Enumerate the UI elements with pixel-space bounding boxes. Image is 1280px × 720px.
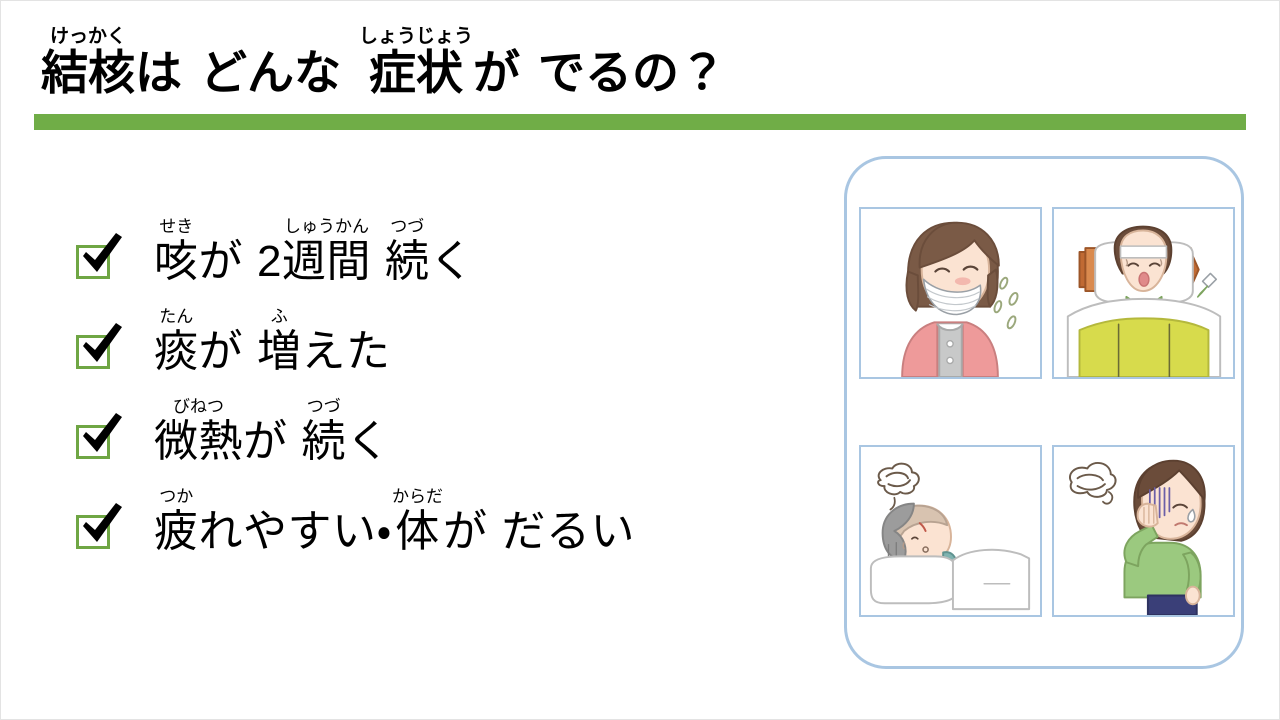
label-text: 週間 — [282, 239, 371, 285]
label-furigana: たん — [159, 308, 193, 326]
label-ruby-group: .が — [443, 488, 488, 555]
label-furigana: せき — [159, 218, 193, 236]
title-text: どんな — [200, 49, 341, 98]
title-text: は — [135, 49, 182, 98]
label-ruby-group: しゅうかん週間 — [282, 218, 371, 285]
label-text: が — [199, 239, 244, 285]
checklist-label: つか疲.れやすい・からだ体.が.だるい — [154, 488, 635, 555]
illustration-grid — [859, 207, 1235, 617]
checkbox-item-phlegm[interactable] — [76, 335, 110, 369]
title-ruby-group: .が — [473, 27, 520, 98]
label-text: 続 — [385, 239, 430, 285]
check-icon — [77, 412, 125, 456]
check-icon — [77, 322, 125, 366]
title-text: が — [473, 49, 520, 98]
label-text: が — [443, 509, 488, 555]
label-furigana: つか — [159, 488, 193, 506]
label-ruby-group: .2 — [257, 218, 282, 285]
label-text: く — [346, 419, 391, 465]
title-ruby-group: しょうじょう症状 — [359, 27, 473, 98]
label-furigana: つづ — [307, 398, 341, 416]
illus-tired-person — [1052, 445, 1235, 617]
checklist-row[interactable]: たん痰.がふ増.えた — [76, 303, 836, 375]
title-text: 結核 — [41, 49, 135, 98]
illus-coughing-woman — [859, 207, 1042, 379]
checklist-label: せき咳.が.2しゅうかん週間つづ続.く — [154, 218, 474, 285]
checkbox-item-lowfever[interactable] — [76, 425, 110, 459]
label-text: 2 — [257, 239, 282, 285]
label-ruby-group: .だるい — [501, 488, 635, 555]
title-furigana: けっかく — [50, 27, 126, 47]
label-furigana: つづ — [390, 218, 424, 236]
label-text: 続 — [302, 419, 347, 465]
label-ruby-group: びねつ微熱 — [154, 398, 243, 465]
title-divider-bar — [34, 114, 1246, 130]
label-text: れやすい・ — [199, 509, 392, 555]
label-text: 体 — [395, 509, 440, 555]
label-text: 咳 — [154, 239, 199, 285]
check-icon — [77, 502, 125, 546]
checklist-row[interactable]: せき咳.が.2しゅうかん週間つづ続.く — [76, 213, 836, 285]
checkbox-item-cough[interactable] — [76, 245, 110, 279]
title-ruby-group: けっかく結核 — [41, 27, 135, 98]
label-ruby-group: .く — [429, 218, 474, 285]
title-text: 症状 — [369, 49, 463, 98]
check-icon — [77, 232, 125, 276]
label-ruby-group: ふ増 — [257, 308, 302, 375]
page-title: けっかく結核.は.どんなしょうじょう症状.が.でるの？ — [41, 27, 1241, 113]
label-ruby-group: せき咳 — [154, 218, 199, 285]
slide-canvas: けっかく結核.は.どんなしょうじょう症状.が.でるの？ せき咳.が.2しゅうかん… — [0, 0, 1280, 720]
label-ruby-group: .が — [199, 218, 244, 285]
label-text: 増 — [257, 329, 302, 375]
label-ruby-group: .が — [199, 308, 244, 375]
label-text: が — [243, 419, 288, 465]
illus-fever-in-bed — [1052, 207, 1235, 379]
label-furigana: ふ — [271, 308, 288, 326]
title-ruby-group: .でるの？ — [538, 27, 726, 98]
label-text: 痰 — [154, 329, 199, 375]
title-ruby-group: .どんな — [200, 27, 341, 98]
label-text: 疲 — [154, 509, 199, 555]
label-ruby-group: .れやすい・ — [199, 488, 392, 555]
label-ruby-group: つづ続 — [385, 218, 430, 285]
label-text: 微熱 — [154, 419, 243, 465]
label-ruby-group: つづ続 — [302, 398, 347, 465]
title-furigana: しょうじょう — [359, 27, 473, 47]
label-ruby-group: からだ体 — [392, 488, 443, 555]
title-line: けっかく結核.は.どんなしょうじょう症状.が.でるの？ — [41, 27, 1241, 98]
checkbox-item-fatigue[interactable] — [76, 515, 110, 549]
label-ruby-group: つか疲 — [154, 488, 199, 555]
checklist-row[interactable]: つか疲.れやすい・からだ体.が.だるい — [76, 483, 836, 555]
label-text: えた — [302, 329, 391, 375]
illustration-container — [844, 156, 1244, 669]
label-ruby-group: .く — [346, 398, 391, 465]
symptom-checklist: せき咳.が.2しゅうかん週間つづ続.くたん痰.がふ増.えたびねつ微熱.がつづ続.… — [76, 213, 836, 555]
label-furigana: からだ — [392, 488, 443, 506]
illus-elderly-lying-down — [859, 445, 1042, 617]
label-ruby-group: .えた — [302, 308, 391, 375]
checklist-label: たん痰.がふ増.えた — [154, 308, 391, 375]
label-text: だるい — [501, 509, 635, 555]
label-text: く — [429, 239, 474, 285]
title-text: でるの？ — [538, 49, 726, 98]
label-furigana: しゅうかん — [284, 218, 369, 236]
label-ruby-group: .が — [243, 398, 288, 465]
label-furigana: びねつ — [173, 398, 224, 416]
label-text: が — [199, 329, 244, 375]
checklist-row[interactable]: びねつ微熱.がつづ続.く — [76, 393, 836, 465]
title-ruby-group: .は — [135, 27, 182, 98]
checklist-label: びねつ微熱.がつづ続.く — [154, 398, 391, 465]
label-ruby-group: たん痰 — [154, 308, 199, 375]
